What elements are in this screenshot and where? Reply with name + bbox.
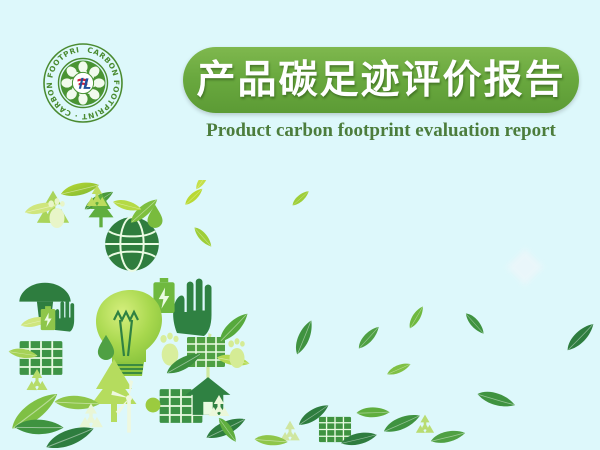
- hand-icon: [173, 279, 211, 336]
- leaf-icon: [477, 384, 517, 415]
- leaf-icon: [290, 190, 312, 206]
- hand-icon: [53, 300, 74, 332]
- leaf-icon: [254, 430, 288, 450]
- leaf-icon: [289, 319, 320, 355]
- slide-canvas: CARBON FOOTPRINT · CARBON FOOTPRINT ·: [0, 0, 600, 450]
- footprint-icon: [228, 338, 244, 368]
- page-title: 产品碳足迹评价报告: [196, 61, 565, 100]
- collage-toe-cluster: [254, 403, 465, 450]
- eco-icon-footprint-collage: [0, 180, 600, 450]
- header: CARBON FOOTPRINT · CARBON FOOTPRINT ·: [0, 0, 600, 160]
- leaf-icon: [182, 187, 206, 205]
- page-subtitle: Product carbon footprint evaluation repo…: [183, 120, 579, 142]
- floating-leaves: [182, 180, 599, 445]
- leaf-icon: [405, 305, 428, 329]
- leaf-icon: [386, 363, 412, 376]
- footprint-icon: [160, 333, 178, 366]
- leaf-icon: [431, 431, 465, 443]
- leaf-icon: [465, 310, 485, 337]
- collage-heel-cluster: [25, 183, 163, 271]
- leaf-icon: [193, 224, 212, 250]
- carbon-footprint-seal-logo: CARBON FOOTPRINT · CARBON FOOTPRINT ·: [42, 42, 124, 124]
- light-bulb-icon: [96, 290, 162, 376]
- leaf-icon: [356, 404, 390, 422]
- leaf-icon: [354, 325, 383, 349]
- footprint-icon: [48, 198, 64, 228]
- recycle-icon: [280, 421, 300, 441]
- collage-left-cluster: [8, 283, 74, 390]
- solar-panel-icon: [20, 341, 63, 375]
- leaf-icon: [192, 180, 212, 190]
- title-banner: 产品碳足迹评价报告: [183, 47, 579, 113]
- tree-icon: [89, 192, 114, 227]
- battery-icon: [41, 306, 56, 330]
- leaf-icon: [382, 413, 422, 433]
- leaf-icon: [562, 322, 599, 351]
